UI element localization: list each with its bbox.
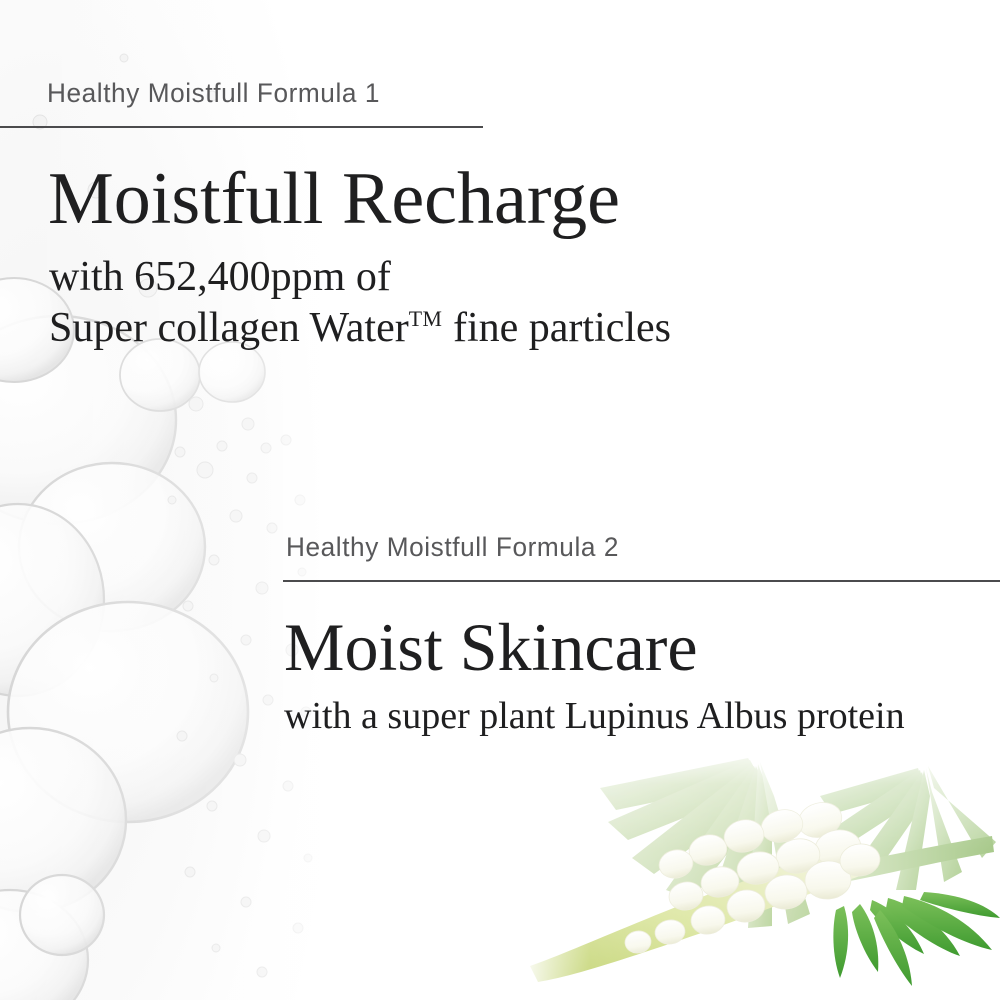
formula-2-headline: Moist Skincare <box>284 613 1000 681</box>
formula-1-subline-line-2-suffix: fine particles <box>442 305 671 351</box>
trademark-mark: TM <box>409 307 443 331</box>
formula-1-divider <box>0 126 483 128</box>
lupine-flower-photo <box>520 740 1000 1000</box>
formula-2-eyebrow: Healthy Moistfull Formula 2 <box>286 532 979 563</box>
formula-1-headline: Moistfull Recharge <box>48 162 760 236</box>
promo-banner: Healthy Moistfull Formula 1 Moistfull Re… <box>0 0 1000 1000</box>
formula-2-divider <box>283 580 1000 582</box>
formula-1-subline-line-1: with 652,400ppm of <box>49 254 391 300</box>
formula-1-eyebrow: Healthy Moistfull Formula 1 <box>47 78 739 109</box>
formula-2-subline: with a super plant Lupinus Albus protein <box>284 693 1000 739</box>
formula-1-section: Healthy Moistfull Formula 1 Moistfull Re… <box>0 78 760 354</box>
formula-1-subline-line-2-prefix: Super collagen Water <box>49 305 409 351</box>
formula-1-subline: with 652,400ppm of Super collagen WaterT… <box>49 252 760 354</box>
formula-2-section: Healthy Moistfull Formula 2 Moist Skinca… <box>0 532 1000 739</box>
